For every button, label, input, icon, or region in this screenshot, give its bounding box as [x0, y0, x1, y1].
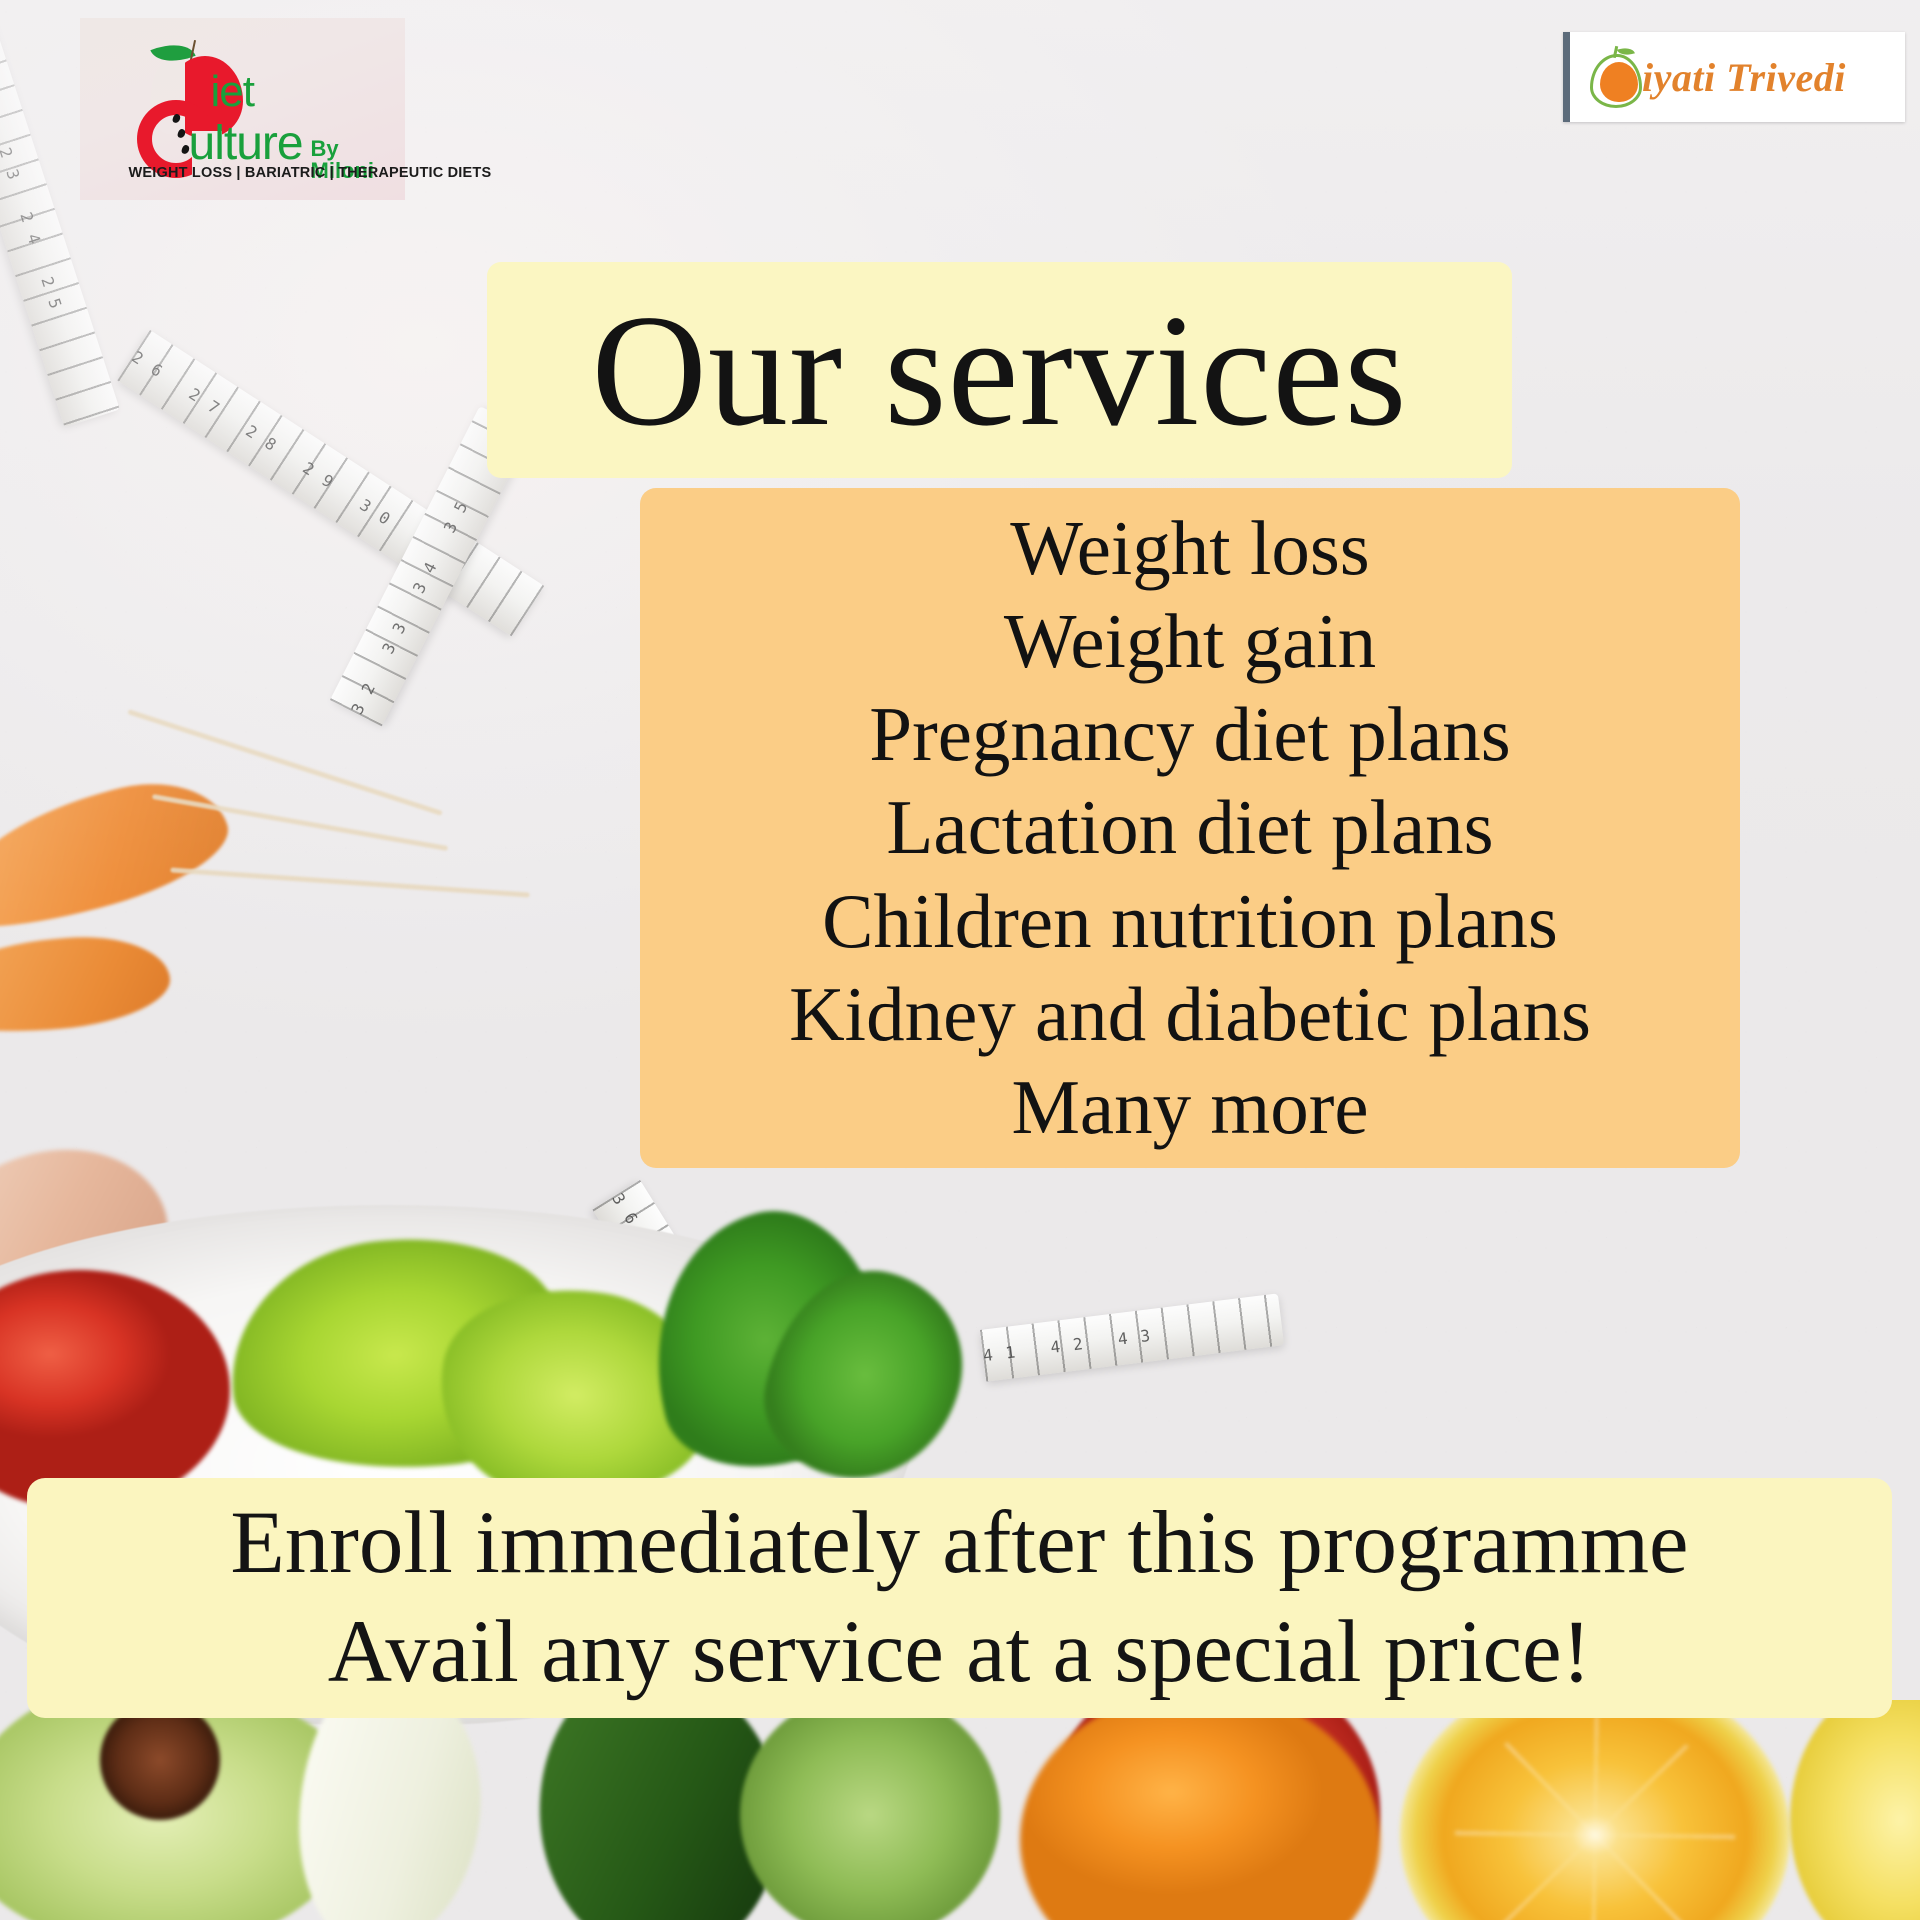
- service-item: Children nutrition plans: [822, 875, 1558, 968]
- page-title: Our services: [591, 290, 1407, 450]
- service-item: Many more: [1011, 1061, 1368, 1154]
- service-item: Lactation diet plans: [886, 781, 1493, 874]
- pear-logo-icon: [1586, 44, 1648, 110]
- service-item: Weight gain: [1004, 595, 1376, 688]
- service-item: Kidney and diabetic plans: [789, 968, 1591, 1061]
- title-card: Our services: [487, 262, 1512, 478]
- logo-word-culture: ulture: [189, 120, 303, 168]
- cta-line-2: Avail any service at a special price!: [328, 1598, 1591, 1707]
- niyati-trivedi-logo[interactable]: iyati Trivedi: [1563, 32, 1905, 122]
- cta-card: Enroll immediately after this programme …: [27, 1478, 1892, 1718]
- service-item: Pregnancy diet plans: [869, 688, 1511, 781]
- diet-culture-logo[interactable]: iet ulture By Miloni WEIGHT LOSS | BARIA…: [80, 18, 405, 200]
- cta-line-1: Enroll immediately after this programme: [230, 1489, 1688, 1598]
- logo-word-diet: iet: [211, 70, 254, 114]
- poster-canvas: 21 22 23 24 25 26 27 28 29 30 31 32 33 3…: [0, 0, 1920, 1920]
- niyati-trivedi-name: iyati Trivedi: [1642, 54, 1846, 101]
- services-card: Weight loss Weight gain Pregnancy diet p…: [640, 488, 1740, 1168]
- service-item: Weight loss: [1010, 502, 1370, 595]
- logo-tagline: WEIGHT LOSS | BARIATRIC | THERAPEUTIC DI…: [129, 165, 492, 181]
